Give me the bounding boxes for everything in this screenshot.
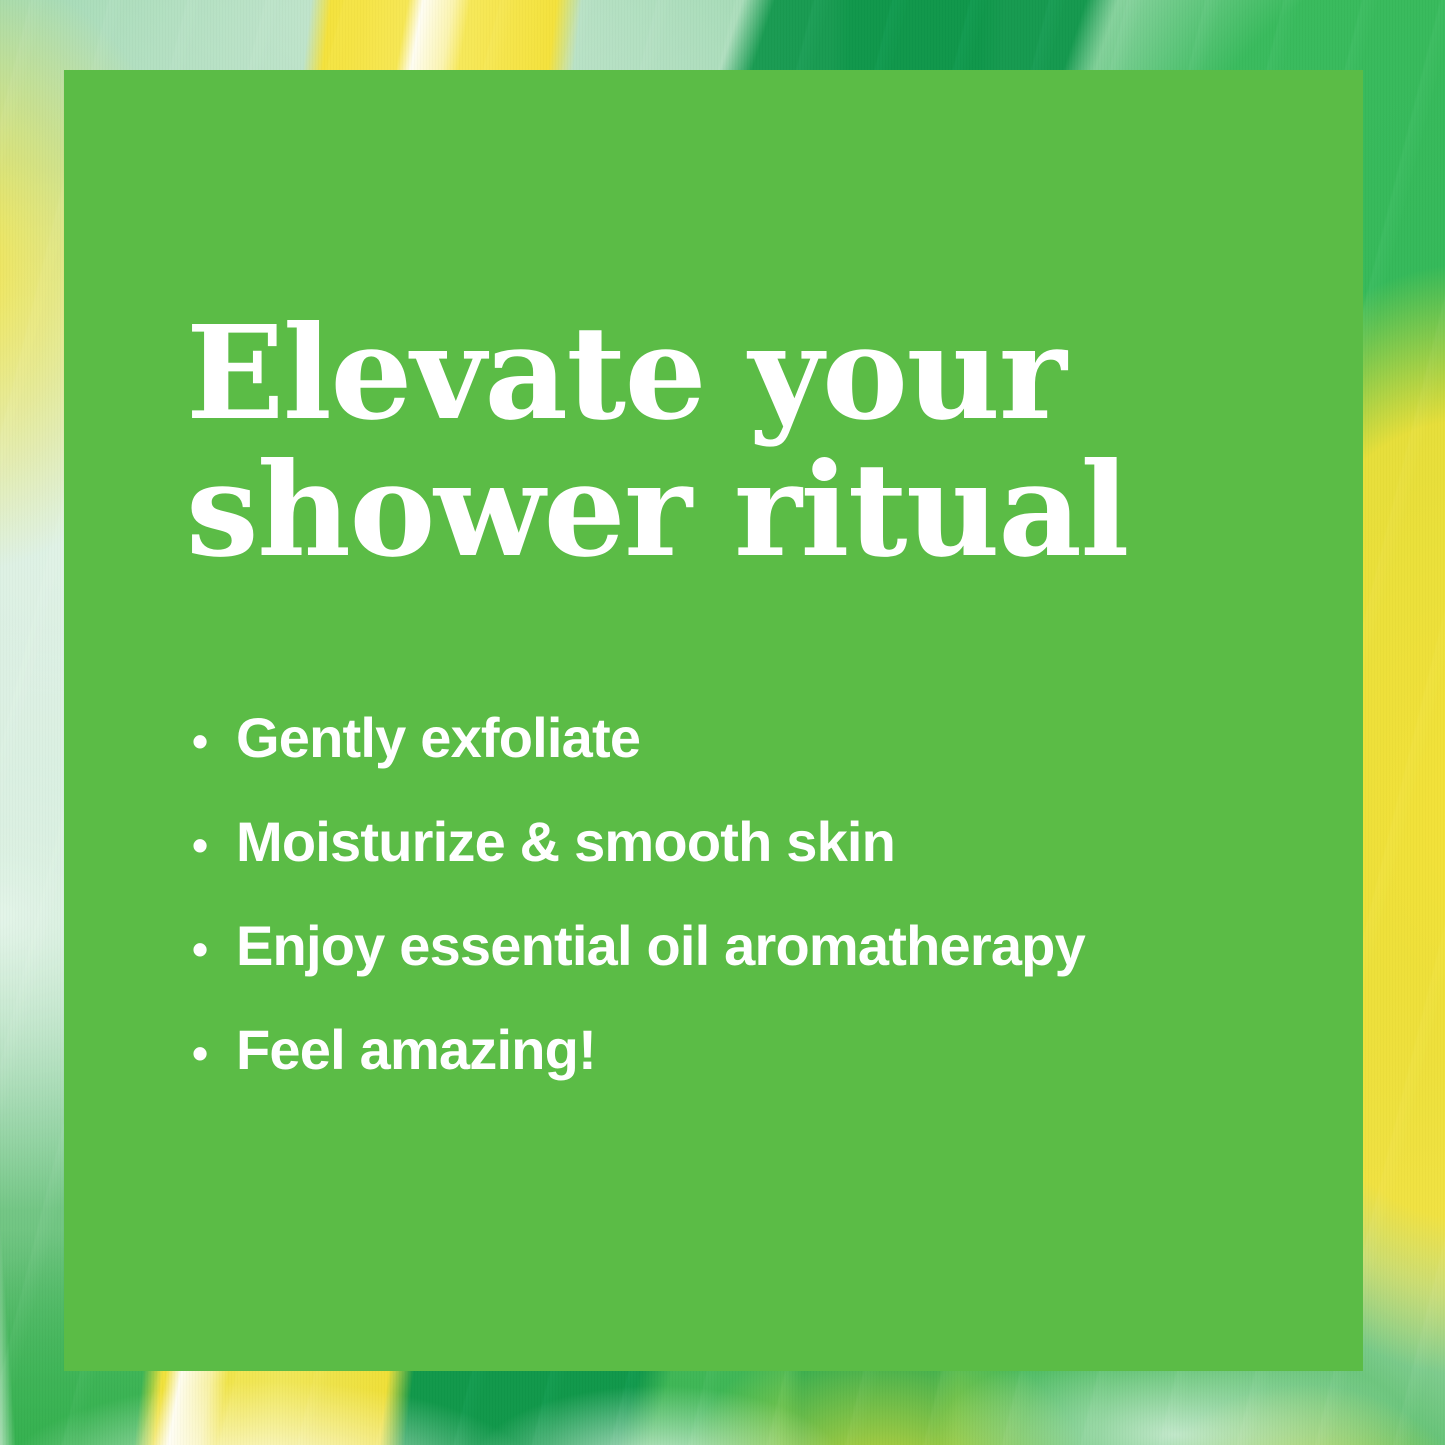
bullet-dot-icon: • (192, 822, 236, 868)
benefit-label: Feel amazing! (236, 1022, 1312, 1078)
benefit-label: Gently exfoliate (236, 710, 1312, 766)
list-item: • Gently exfoliate (192, 710, 1312, 814)
list-item: • Enjoy essential oil aromatherapy (192, 918, 1312, 1022)
headline-line-2: shower ritual (186, 443, 1276, 580)
benefit-label: Moisturize & smooth skin (236, 814, 1312, 870)
list-item: • Moisturize & smooth skin (192, 814, 1312, 918)
product-feature-graphic: Elevate your shower ritual • Gently exfo… (0, 0, 1445, 1445)
bullet-dot-icon: • (192, 1030, 236, 1076)
benefit-label: Enjoy essential oil aromatherapy (236, 918, 1312, 974)
benefits-list: • Gently exfoliate • Moisturize & smooth… (192, 710, 1312, 1126)
list-item: • Feel amazing! (192, 1022, 1312, 1126)
headline: Elevate your shower ritual (186, 306, 1276, 579)
bullet-dot-icon: • (192, 718, 236, 764)
headline-line-1: Elevate your (186, 306, 1276, 443)
bullet-dot-icon: • (192, 926, 236, 972)
content-card: Elevate your shower ritual • Gently exfo… (64, 70, 1363, 1371)
